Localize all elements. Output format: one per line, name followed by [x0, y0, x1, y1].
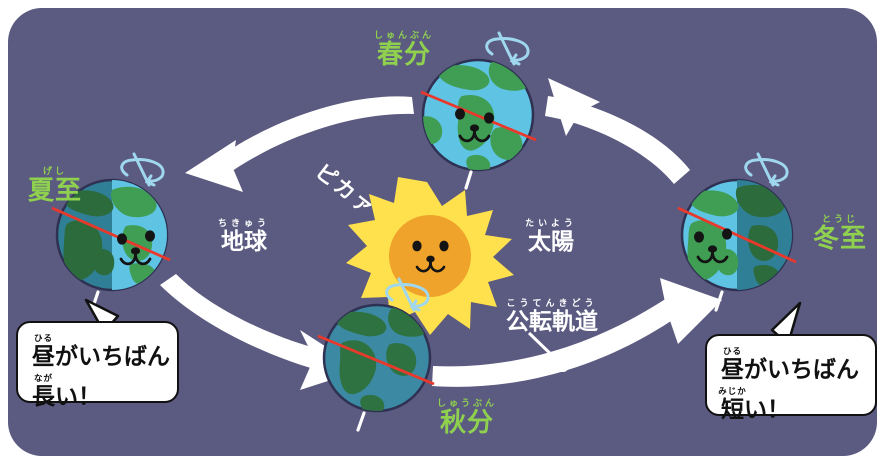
bubble-left-line2: なが 長 い！ [32, 375, 163, 409]
season-label-autumnal-equinox: しゅうぶん 秋分 [428, 400, 506, 436]
sun-label-ruby: たいよう [511, 220, 591, 229]
ruby-mijika-right: みじか 短 [721, 388, 744, 422]
sun-label: たいよう 太陽 [511, 220, 591, 254]
sun-label-main: 太陽 [511, 231, 591, 254]
earth-label: ちきゅう 地球 [204, 220, 284, 254]
arrow-top-left [185, 96, 414, 192]
ruby-hiru-right: ひる 昼 [721, 348, 744, 382]
arrow-top-right [545, 78, 690, 184]
rotation-arrow-icon-right [746, 154, 787, 185]
orbit-label: こうてんきどう 公転軌道 [492, 300, 612, 334]
earth-label-ruby: ちきゅう [204, 220, 284, 229]
bubble-left-line1-rest: がいちばん [55, 344, 170, 370]
ruby-naga-left: なが 長 [32, 375, 55, 409]
speech-bubble-right: ひる 昼 がいちばん みじか 短 い！ [705, 334, 877, 416]
season-main-autumnal-equinox: 秋分 [428, 410, 506, 436]
speech-bubble-left: ひる 昼 がいちばん なが 長 い！ [16, 321, 179, 403]
season-main-vernal-equinox: 春分 [365, 42, 443, 68]
season-label-vernal-equinox: しゅんぶん 春分 [365, 32, 443, 68]
season-label-winter-solstice: とうじ 冬至 [801, 216, 877, 252]
bubble-right-line1-rest: がいちばん [744, 357, 859, 383]
earth-right [678, 154, 799, 310]
season-label-summer-solstice: げし 夏至 [16, 168, 94, 204]
orbit-label-main: 公転軌道 [492, 311, 612, 334]
rotation-arrow-icon-left [122, 154, 163, 185]
earth-label-main: 地球 [204, 231, 284, 254]
ruby-hiru-left: ひる 昼 [32, 335, 55, 369]
bubble-left-line1: ひる 昼 がいちばん [32, 335, 163, 369]
earth-bottom [318, 279, 434, 430]
bubble-right-line2-rest: い！ [744, 397, 790, 423]
orbit-label-ruby: こうてんきどう [492, 300, 612, 309]
bubble-right-line1: ひる 昼 がいちばん [721, 348, 861, 382]
rotation-arrow-icon-top [487, 33, 528, 64]
season-main-winter-solstice: 冬至 [801, 226, 877, 252]
bubble-left-line2-rest: い！ [55, 384, 101, 410]
figure-canvas: しゅんぶん 春分 げし 夏至 しゅうぶん 秋分 とうじ 冬至 ちきゅう 地球 た… [0, 0, 885, 468]
diagram-panel: しゅんぶん 春分 げし 夏至 しゅうぶん 秋分 とうじ 冬至 ちきゅう 地球 た… [8, 8, 877, 456]
bubble-right-line2: みじか 短 い！ [721, 388, 861, 422]
season-main-summer-solstice: 夏至 [16, 178, 94, 204]
